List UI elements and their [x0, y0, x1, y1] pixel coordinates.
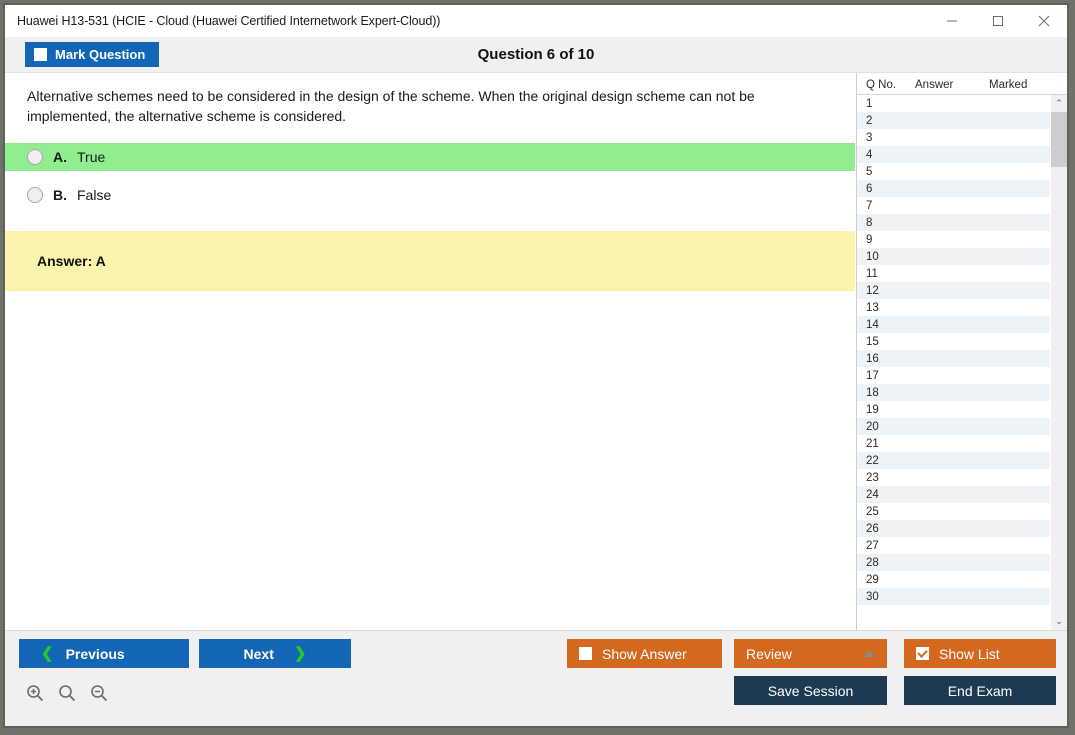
cell-qno: 28 [857, 557, 915, 569]
table-row[interactable]: 7 [857, 197, 1050, 214]
cell-qno: 1 [857, 98, 915, 110]
option-letter: B. [53, 187, 67, 203]
table-row[interactable]: 19 [857, 401, 1050, 418]
cell-qno: 24 [857, 489, 915, 501]
cell-qno: 27 [857, 540, 915, 552]
cell-qno: 23 [857, 472, 915, 484]
table-row[interactable]: 13 [857, 299, 1050, 316]
scrollbar-track[interactable] [1051, 112, 1068, 613]
answer-label: Answer: A [37, 253, 106, 269]
exam-window: Huawei H13-531 (HCIE - Cloud (Huawei Cer… [4, 4, 1068, 727]
zoom-tools [25, 683, 109, 703]
show-answer-label: Show Answer [602, 646, 687, 662]
cell-qno: 16 [857, 353, 915, 365]
table-row[interactable]: 11 [857, 265, 1050, 282]
mark-question-button[interactable]: Mark Question [25, 42, 159, 67]
cell-qno: 5 [857, 166, 915, 178]
scroll-up-arrow-icon[interactable]: ⌃ [1051, 95, 1068, 112]
body-split: Alternative schemes need to be considere… [5, 73, 1067, 630]
chevron-left-icon: ❮ [41, 646, 54, 661]
option-row[interactable]: A.True [5, 143, 855, 171]
zoom-out-icon[interactable] [89, 683, 109, 703]
table-row[interactable]: 16 [857, 350, 1050, 367]
table-row[interactable]: 6 [857, 180, 1050, 197]
cell-qno: 7 [857, 200, 915, 212]
options-list: A.TrueB.False [5, 143, 855, 209]
table-row[interactable]: 8 [857, 214, 1050, 231]
show-answer-checkbox[interactable] [579, 647, 592, 660]
title-bar: Huawei H13-531 (HCIE - Cloud (Huawei Cer… [5, 5, 1067, 37]
table-row[interactable]: 20 [857, 418, 1050, 435]
cell-qno: 8 [857, 217, 915, 229]
cell-qno: 25 [857, 506, 915, 518]
scrollbar-thumb[interactable] [1051, 112, 1068, 167]
table-row[interactable]: 30 [857, 588, 1050, 605]
table-row[interactable]: 26 [857, 520, 1050, 537]
save-session-button[interactable]: Save Session [734, 676, 887, 705]
question-list-header: Q No. Answer Marked [857, 73, 1067, 95]
table-row[interactable]: 25 [857, 503, 1050, 520]
option-text: False [77, 187, 111, 203]
table-row[interactable]: 28 [857, 554, 1050, 571]
cell-qno: 11 [857, 268, 915, 280]
cell-qno: 9 [857, 234, 915, 246]
answer-box: Answer: A [5, 231, 855, 291]
table-row[interactable]: 18 [857, 384, 1050, 401]
question-counter: Question 6 of 10 [5, 46, 1067, 63]
question-list-panel: Q No. Answer Marked 12345678910111213141… [856, 73, 1067, 630]
table-row[interactable]: 24 [857, 486, 1050, 503]
cell-qno: 30 [857, 591, 915, 603]
cell-qno: 21 [857, 438, 915, 450]
table-row[interactable]: 5 [857, 163, 1050, 180]
zoom-reset-icon[interactable] [57, 683, 77, 703]
table-row[interactable]: 14 [857, 316, 1050, 333]
cell-qno: 13 [857, 302, 915, 314]
cell-qno: 2 [857, 115, 915, 127]
mark-question-label: Mark Question [55, 47, 145, 62]
table-row[interactable]: 9 [857, 231, 1050, 248]
zoom-in-icon[interactable] [25, 683, 45, 703]
cell-qno: 18 [857, 387, 915, 399]
next-button[interactable]: Next ❯ [199, 639, 351, 668]
previous-label: Previous [66, 646, 125, 662]
option-text: True [77, 149, 105, 165]
cell-qno: 26 [857, 523, 915, 535]
end-exam-label: End Exam [948, 683, 1013, 699]
column-header-marked: Marked [989, 79, 1067, 91]
save-session-label: Save Session [768, 683, 854, 699]
question-list-rows: 1234567891011121314151617181920212223242… [857, 95, 1050, 630]
table-row[interactable]: 2 [857, 112, 1050, 129]
option-letter: A. [53, 149, 67, 165]
chevron-up-icon [863, 651, 875, 657]
review-label: Review [746, 646, 792, 662]
window-controls [929, 5, 1067, 37]
maximize-icon[interactable] [975, 5, 1021, 37]
cell-qno: 15 [857, 336, 915, 348]
footer-toolbar: ❮ Previous Next ❯ [5, 630, 1067, 726]
question-pane: Alternative schemes need to be considere… [5, 73, 856, 630]
option-radio[interactable] [27, 149, 43, 165]
table-row[interactable]: 3 [857, 129, 1050, 146]
window-title: Huawei H13-531 (HCIE - Cloud (Huawei Cer… [5, 14, 440, 28]
show-list-label: Show List [939, 646, 1000, 662]
cell-qno: 14 [857, 319, 915, 331]
table-row[interactable]: 1 [857, 95, 1050, 112]
review-dropdown[interactable]: Review [734, 639, 887, 668]
close-icon[interactable] [1021, 5, 1067, 37]
show-list-checkbox[interactable] [916, 647, 929, 660]
cell-qno: 3 [857, 132, 915, 144]
scroll-down-arrow-icon[interactable]: ⌄ [1051, 613, 1068, 630]
show-answer-button[interactable]: Show Answer [567, 639, 722, 668]
option-radio[interactable] [27, 187, 43, 203]
table-row[interactable]: 27 [857, 537, 1050, 554]
column-header-qno: Q No. [857, 79, 915, 91]
table-row[interactable]: 23 [857, 469, 1050, 486]
mark-question-checkbox[interactable] [34, 48, 47, 61]
cell-qno: 29 [857, 574, 915, 586]
cell-qno: 4 [857, 149, 915, 161]
cell-qno: 6 [857, 183, 915, 195]
question-list-scrollbar[interactable]: ⌃ ⌄ [1050, 95, 1067, 630]
table-row[interactable]: 29 [857, 571, 1050, 588]
cell-qno: 10 [857, 251, 915, 263]
minimize-icon[interactable] [929, 5, 975, 37]
show-list-button[interactable]: Show List [904, 639, 1056, 668]
question-text: Alternative schemes need to be considere… [5, 73, 855, 127]
table-row[interactable]: 10 [857, 248, 1050, 265]
cell-qno: 17 [857, 370, 915, 382]
cell-qno: 20 [857, 421, 915, 433]
column-header-answer: Answer [915, 79, 989, 91]
table-row[interactable]: 12 [857, 282, 1050, 299]
next-label: Next [244, 646, 274, 662]
cell-qno: 22 [857, 455, 915, 467]
table-row[interactable]: 17 [857, 367, 1050, 384]
end-exam-button[interactable]: End Exam [904, 676, 1056, 705]
cell-qno: 12 [857, 285, 915, 297]
previous-button[interactable]: ❮ Previous [19, 639, 189, 668]
table-row[interactable]: 21 [857, 435, 1050, 452]
table-row[interactable]: 4 [857, 146, 1050, 163]
option-spacer [5, 171, 855, 181]
question-list-body: 1234567891011121314151617181920212223242… [857, 95, 1067, 630]
table-row[interactable]: 15 [857, 333, 1050, 350]
chevron-right-icon: ❯ [294, 646, 307, 661]
cell-qno: 19 [857, 404, 915, 416]
header-bar: Mark Question Question 6 of 10 [5, 37, 1067, 73]
table-row[interactable]: 22 [857, 452, 1050, 469]
option-row[interactable]: B.False [5, 181, 855, 209]
